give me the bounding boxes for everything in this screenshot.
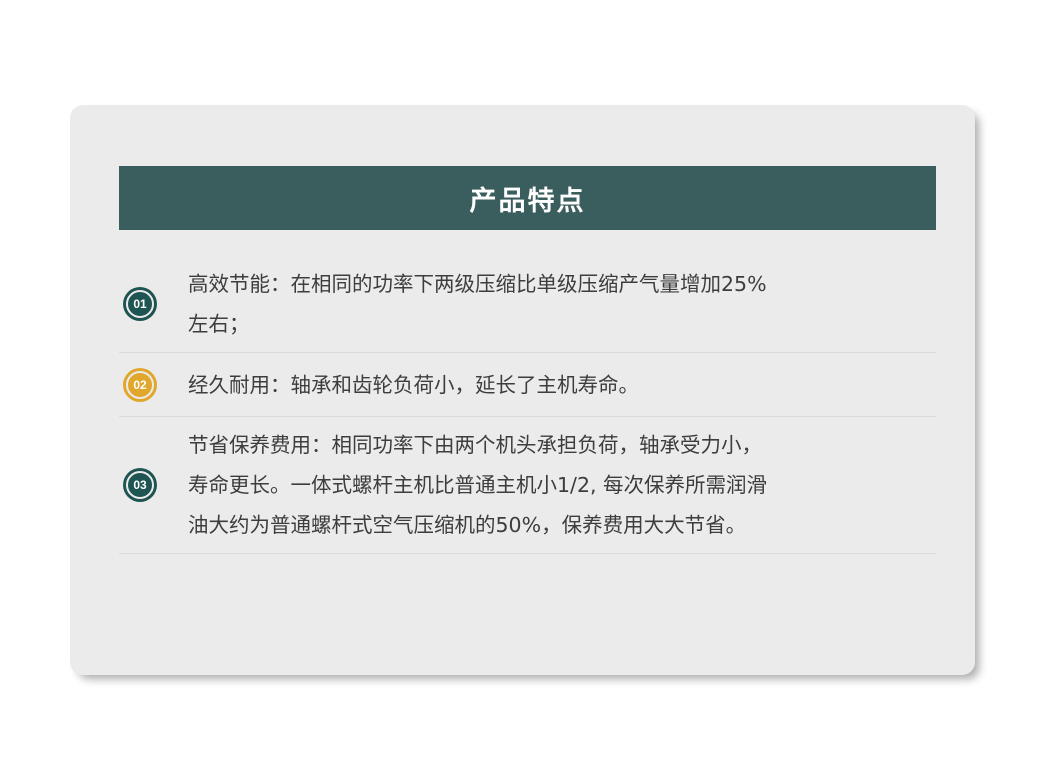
feature-text-line: 寿命更长。一体式螺杆主机比普通主机小1/2, 每次保养所需润滑	[188, 465, 930, 505]
product-features-card: 产品特点 01 高效节能：在相同的功率下两级压缩比单级压缩产气量增加25% 左右…	[70, 105, 975, 675]
list-item: 03 节省保养费用：相同功率下由两个机头承担负荷，轴承受力小， 寿命更长。一体式…	[119, 417, 936, 554]
card-header-band: 产品特点	[119, 166, 936, 230]
feature-text-03: 节省保养费用：相同功率下由两个机头承担负荷，轴承受力小， 寿命更长。一体式螺杆主…	[188, 425, 936, 545]
page-title: 产品特点	[470, 179, 586, 218]
feature-text-line: 节省保养费用：相同功率下由两个机头承担负荷，轴承受力小，	[188, 425, 930, 465]
feature-text-01: 高效节能：在相同的功率下两级压缩比单级压缩产气量增加25% 左右；	[188, 264, 936, 344]
feature-text-line: 油大约为普通螺杆式空气压缩机的50%，保养费用大大节省。	[188, 505, 930, 545]
feature-number-badge-02: 02	[123, 368, 157, 402]
list-item: 01 高效节能：在相同的功率下两级压缩比单级压缩产气量增加25% 左右；	[119, 255, 936, 353]
feature-list: 01 高效节能：在相同的功率下两级压缩比单级压缩产气量增加25% 左右； 02 …	[119, 255, 936, 554]
badge-number-label: 02	[133, 379, 146, 391]
feature-number-badge-01: 01	[123, 287, 157, 321]
list-item: 02 经久耐用：轴承和齿轮负荷小，延长了主机寿命。	[119, 353, 936, 417]
feature-text-line: 左右；	[188, 304, 930, 344]
feature-text-line: 高效节能：在相同的功率下两级压缩比单级压缩产气量增加25%	[188, 264, 930, 304]
page-root: 产品特点 01 高效节能：在相同的功率下两级压缩比单级压缩产气量增加25% 左右…	[0, 0, 1060, 775]
badge-number-label: 01	[133, 298, 146, 310]
feature-number-badge-03: 03	[123, 468, 157, 502]
feature-text-line: 经久耐用：轴承和齿轮负荷小，延长了主机寿命。	[188, 365, 930, 405]
feature-text-02: 经久耐用：轴承和齿轮负荷小，延长了主机寿命。	[188, 365, 936, 405]
badge-number-label: 03	[133, 479, 146, 491]
